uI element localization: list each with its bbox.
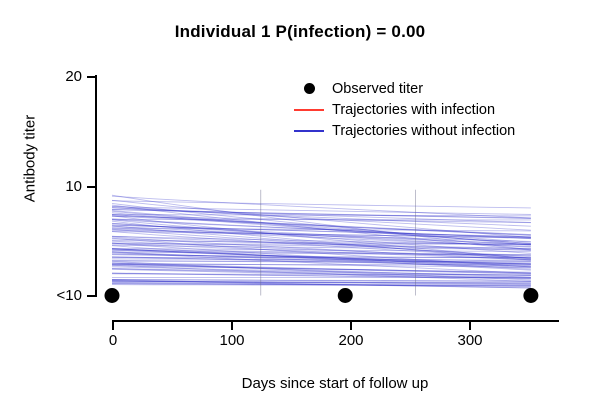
y-tick-label-10: 10 (40, 178, 82, 195)
infection-line-icon (286, 109, 332, 111)
x-tick-mark-0 (112, 322, 114, 330)
y-tick-mark-lt10 (87, 295, 95, 297)
legend-label-observed: Observed titer (332, 81, 423, 97)
x-tick-label-0: 0 (83, 332, 143, 349)
legend-label-without-infection: Trajectories without infection (332, 123, 515, 139)
legend-item-without-infection: Trajectories without infection (286, 120, 515, 141)
x-tick-label-100: 100 (202, 332, 262, 349)
legend-item-observed: Observed titer (286, 78, 515, 99)
no-infection-line-icon (286, 130, 332, 132)
chart-legend: Observed titer Trajectories with infecti… (286, 78, 515, 141)
y-tick-mark-20 (87, 76, 95, 78)
x-tick-label-200: 200 (321, 332, 381, 349)
y-tick-label-20: 20 (40, 68, 82, 85)
x-tick-mark-100 (231, 322, 233, 330)
y-axis-line (95, 75, 97, 297)
observed-points (105, 288, 539, 303)
x-tick-label-300: 300 (440, 332, 500, 349)
x-axis-label: Days since start of follow up (100, 375, 570, 392)
y-tick-mark-10 (87, 186, 95, 188)
legend-item-with-infection: Trajectories with infection (286, 99, 515, 120)
chart-root: Individual 1 P(infection) = 0.00 20 10 <… (0, 0, 600, 400)
y-axis-label: Antibody titer (22, 69, 39, 249)
trajectory-lines (112, 195, 531, 288)
x-tick-mark-200 (350, 322, 352, 330)
x-axis-line (112, 320, 559, 322)
legend-label-with-infection: Trajectories with infection (332, 102, 495, 118)
observed-point-icon (286, 83, 332, 94)
x-tick-mark-300 (469, 322, 471, 330)
y-tick-label-lt10: <10 (30, 287, 82, 304)
